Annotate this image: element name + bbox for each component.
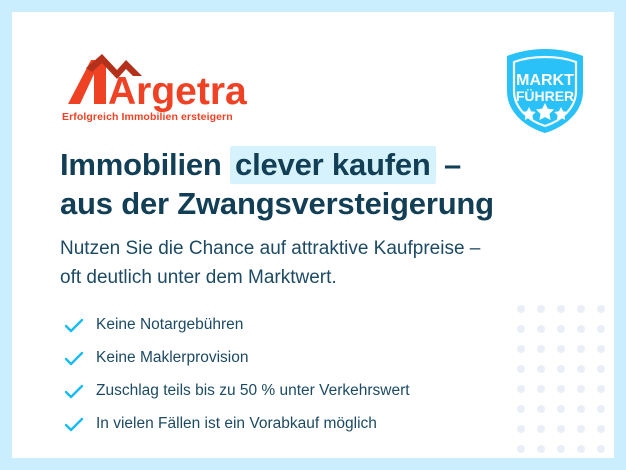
grid-dot <box>537 305 545 313</box>
headline-part2: – <box>436 147 461 182</box>
promo-banner: Argetra Erfolgreich Immobilien ersteiger… <box>0 0 626 470</box>
grid-dot <box>577 325 585 333</box>
grid-dot <box>577 445 585 453</box>
headline-part1: Immobilien <box>60 147 230 182</box>
headline-line2: aus der Zwangsversteigerung <box>60 184 580 223</box>
grid-dot <box>577 425 585 433</box>
list-item: Zuschlag teils bis zu 50 % unter Verkehr… <box>64 376 524 407</box>
check-icon <box>64 351 96 367</box>
grid-dot <box>537 325 545 333</box>
list-item: In vielen Fällen ist ein Vorabkauf mögli… <box>64 409 524 440</box>
list-item-label: Keine Maklerprovision <box>96 349 249 368</box>
logo-wordmark: Argetra <box>108 70 247 113</box>
list-item: Keine Maklerprovision <box>64 343 524 374</box>
grid-dot <box>557 325 565 333</box>
badge-line1: MARKT <box>516 72 574 89</box>
grid-dot <box>557 425 565 433</box>
subheadline-line1: Nutzen Sie die Chance auf attraktive Kau… <box>60 234 580 263</box>
logo-tagline: Erfolgreich Immobilien ersteigern <box>62 111 233 123</box>
list-item-label: In vielen Fällen ist ein Vorabkauf mögli… <box>96 415 377 434</box>
grid-dot <box>537 365 545 373</box>
subheadline: Nutzen Sie die Chance auf attraktive Kau… <box>60 234 580 293</box>
grid-dot <box>597 345 605 353</box>
grid-dot <box>597 365 605 373</box>
grid-dot <box>557 405 565 413</box>
grid-dot <box>597 305 605 313</box>
page-title: Immobilien clever kaufen – aus der Zwang… <box>60 145 580 223</box>
grid-dot <box>537 425 545 433</box>
list-item: Keine Notargebühren <box>64 310 524 341</box>
list-item-label: Zuschlag teils bis zu 50 % unter Verkehr… <box>96 382 410 401</box>
grid-dot <box>537 385 545 393</box>
list-item-label: Keine Notargebühren <box>96 316 243 335</box>
check-icon <box>64 417 96 433</box>
badge-line2: FÜHRER <box>516 88 574 104</box>
grid-dot <box>517 445 525 453</box>
check-icon <box>64 318 96 334</box>
grid-dot <box>557 445 565 453</box>
grid-dot <box>557 305 565 313</box>
grid-dot <box>597 445 605 453</box>
grid-dot <box>597 325 605 333</box>
grid-dot <box>597 405 605 413</box>
check-icon <box>64 384 96 400</box>
grid-dot <box>577 305 585 313</box>
grid-dot <box>597 385 605 393</box>
grid-dot <box>577 385 585 393</box>
headline-highlight: clever kaufen <box>230 146 436 184</box>
grid-dot <box>597 425 605 433</box>
grid-dot <box>557 385 565 393</box>
grid-dot <box>577 405 585 413</box>
grid-dot <box>577 365 585 373</box>
grid-dot <box>557 345 565 353</box>
grid-dot <box>557 365 565 373</box>
grid-dot <box>537 345 545 353</box>
argetra-logo[interactable]: Argetra Erfolgreich Immobilien ersteiger… <box>60 52 250 124</box>
grid-dot <box>537 405 545 413</box>
benefits-list: Keine Notargebühren Keine Maklerprovisio… <box>64 310 524 442</box>
grid-dot <box>577 345 585 353</box>
subheadline-line2: oft deutlich unter dem Marktwert. <box>60 263 580 292</box>
market-leader-badge: MARKT FÜHRER <box>499 45 591 137</box>
banner-card: Argetra Erfolgreich Immobilien ersteiger… <box>12 12 614 458</box>
grid-dot <box>537 445 545 453</box>
dot-grid-decoration <box>517 305 614 458</box>
